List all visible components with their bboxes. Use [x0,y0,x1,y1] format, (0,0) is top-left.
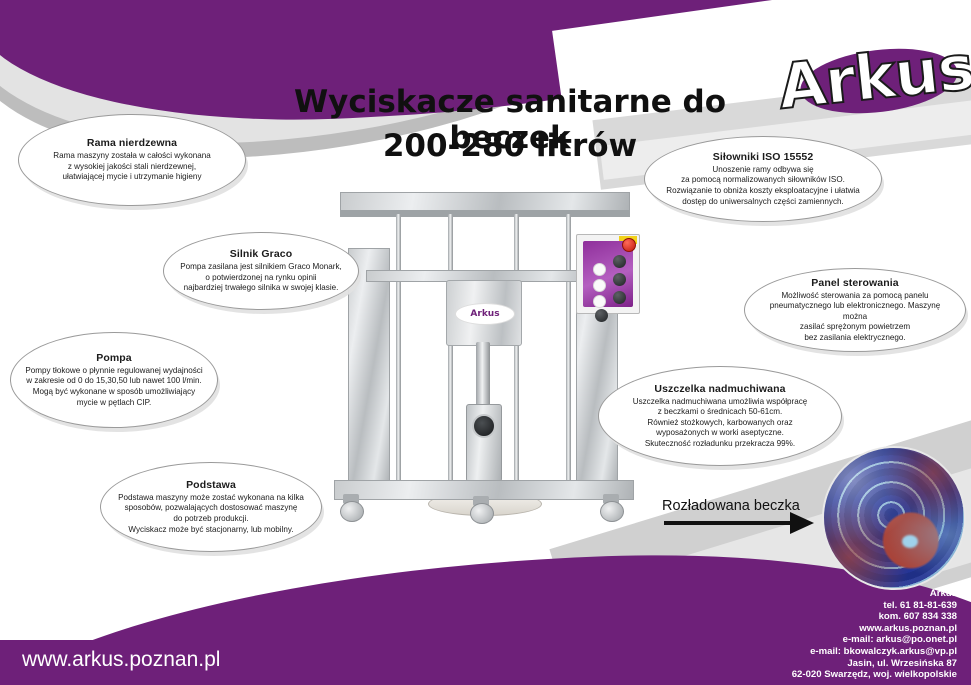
pressure-gauge [593,295,606,308]
callout-line: bez zasilania elektrycznego. [804,333,905,344]
machine-caster-wheel [340,494,362,520]
pressure-gauge [593,279,606,292]
contact-line: kom. 607 834 338 [697,611,957,623]
footer-website-url[interactable]: www.arkus.poznan.pl [22,648,220,672]
contact-line: Arkus [697,588,957,600]
callout-line: Uszczelka nadmuchiwana umożliwia współpr… [633,397,808,408]
cylinder-logo-badge: Arkus [455,303,515,325]
callout-line: do potrzeb produkcji. [173,514,248,525]
drum-residue-sheen [824,448,964,588]
caster-tyre [600,501,624,522]
machine-photo: Arkus [318,192,658,590]
machine-control-panel [576,234,640,314]
logo-wordmark: Arkus [774,27,967,130]
emergency-stop-button [622,238,636,252]
callout-line: Unoszenie ramy odbywa się [712,165,813,176]
machine-outlet-port [472,414,496,438]
callout-line: mycie w pętlach CIP. [77,398,152,409]
callout-title: Uszczelka nadmuchiwana [654,383,785,395]
footer-contact-block: Arkus tel. 61 81-81-639 kom. 607 834 338… [697,588,957,681]
callout-rama-nierdzewna: Rama nierdzewna Rama maszyny została w c… [18,114,246,206]
callout-line: Skuteczność rozładunku przekracza 99%. [645,439,795,450]
callout-title: Pompa [96,352,132,364]
callout-line: Mogą być wykonane w sposób umożliwiający [33,387,195,398]
callout-uszczelka-nadmuchiwana: Uszczelka nadmuchiwana Uszczelka nadmuch… [598,366,842,466]
callout-pompa: Pompa Pompy tłokowe o płynnie regulowane… [10,332,218,428]
caster-tyre [470,503,494,524]
callout-line: o potwierdzonej na rynku opinii [205,273,316,284]
machine-top-beam [340,192,630,212]
arrow-right-icon [664,521,792,525]
machine-column-left [348,248,390,486]
callout-line: Również stożkowych, karbowanych oraz [647,418,792,429]
callout-line: Wyciskacz może być stacjonarny, lub mobi… [128,525,293,536]
control-knob [613,273,626,286]
annotation-label: Rozładowana beczka [662,498,800,514]
cylinder-logo-text: Arkus [470,309,499,319]
unloaded-drum-photo [822,446,966,590]
callout-line: wyposażonych w worki aseptyczne. [656,428,784,439]
callout-silowniki-iso: Siłowniki ISO 15552 Unoszenie ramy odbyw… [644,136,882,222]
machine-guide-rod [396,214,401,486]
callout-title: Podstawa [186,479,236,491]
contact-line: Jasin, ul. Wrzesińska 87 [697,658,957,670]
callout-title: Panel sterowania [811,277,898,289]
control-knob [613,255,626,268]
machine-caster-wheel [600,494,622,520]
contact-line[interactable]: e-mail: bkowalczyk.arkus@vp.pl [697,646,957,658]
callout-line: w zakresie od 0 do 15,30,50 lub nawet 10… [26,376,201,387]
poster-canvas: Arkus Wyciskacze sanitarne do beczek 200… [0,0,971,685]
machine-cylinder: Arkus [446,280,522,346]
machine-guide-rod [514,214,519,486]
contact-line[interactable]: www.arkus.poznan.pl [697,623,957,635]
callout-line: dostęp do uniwersalnych części zamiennyc… [682,197,844,208]
callout-silnik-graco: Silnik Graco Pompa zasilana jest silniki… [163,232,359,310]
callout-line: z beczkami o średnicach 50-61cm. [658,407,783,418]
control-knob [613,291,626,304]
arkus-logo: Arkus [778,28,963,126]
callout-line: najbardziej trwałego silnika w swojej kl… [184,283,339,294]
control-knob [595,309,608,322]
callout-title: Siłowniki ISO 15552 [713,151,814,163]
callout-podstawa: Podstawa Podstawa maszyny może zostać wy… [100,462,322,552]
machine-top-beam-shadow [340,210,630,217]
callout-line: Możliwość sterowania za pomocą panelu [781,291,928,302]
callout-title: Rama nierdzewna [87,137,177,149]
callout-line: Rama maszyny została w całości wykonana [53,151,210,162]
caster-tyre [340,501,364,522]
contact-line: 62-020 Swarzędz, woj. wielkopolskie [697,669,957,681]
callout-panel-sterowania: Panel sterowania Możliwość sterowania za… [744,268,966,352]
machine-guide-rod [566,214,571,486]
contact-line: tel. 61 81-81-639 [697,600,957,612]
contact-line[interactable]: e-mail: arkus@po.onet.pl [697,634,957,646]
arrow-head-icon [790,512,814,534]
callout-line: zasilać sprężonym powietrzem [800,322,910,333]
pressure-gauge [593,263,606,276]
callout-title: Silnik Graco [230,248,292,260]
machine-guide-rod [448,214,453,486]
machine-caster-wheel [470,496,492,522]
callout-line: pneumatycznego lub elektronicznego. Masz… [757,301,953,322]
callout-line: za pomocą normalizowanych siłowników ISO… [681,175,845,186]
callout-line: sposobów, pozwalających dostosować maszy… [125,503,298,514]
callout-line: Pompa zasilana jest silnikiem Graco Mona… [180,262,342,273]
callout-line: Pompy tłokowe o płynnie regulowanej wyda… [25,366,202,377]
callout-line: z wysokiej jakości stali nierdzewnej, [68,162,196,173]
callout-line: ułatwiającej mycie i utrzymanie higieny [62,172,201,183]
callout-line: Podstawa maszyny może zostać wykonana na… [118,493,304,504]
callout-line: Rozwiązanie to obniża koszty eksploatacy… [666,186,859,197]
